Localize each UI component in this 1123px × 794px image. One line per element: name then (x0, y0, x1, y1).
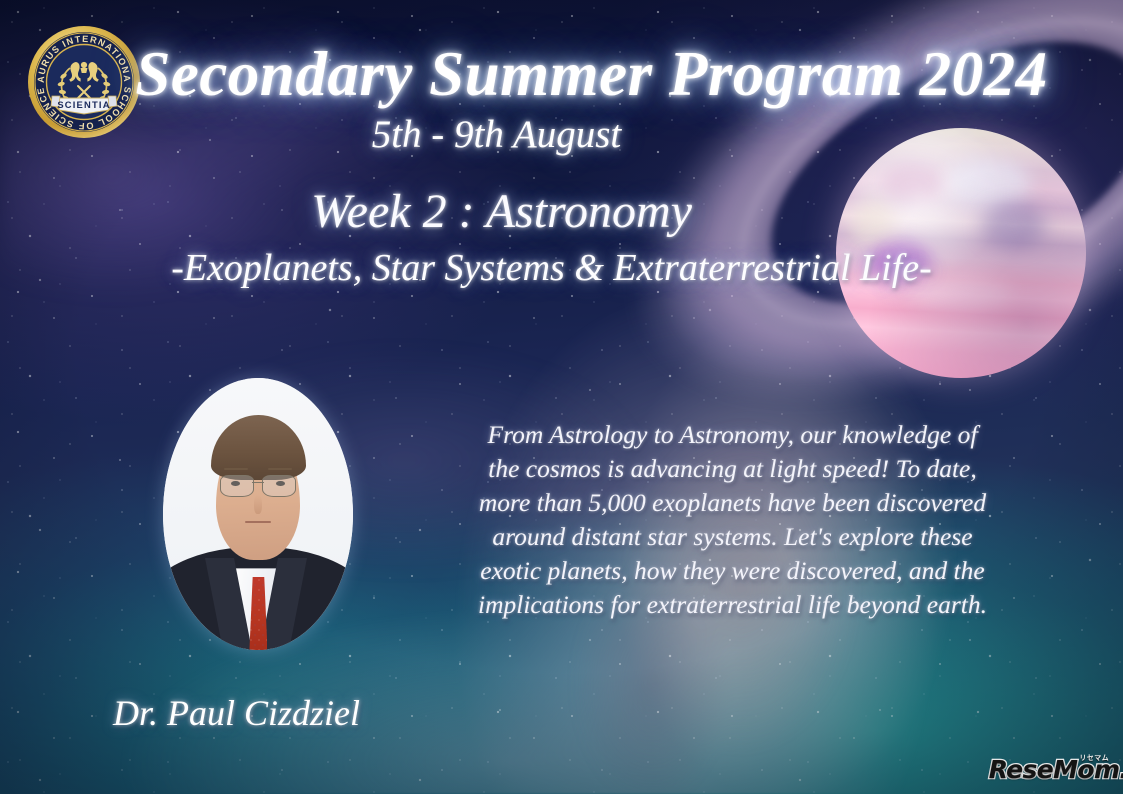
description-line: exotic planets, how they were discovered… (450, 554, 1015, 588)
speaker-name: Dr. Paul Cizdziel (113, 692, 360, 734)
week-heading: Week 2 : Astronomy (0, 184, 1123, 239)
topic-subheading: -Exoplanets, Star Systems & Extraterrest… (0, 246, 1123, 290)
description-line: around distant star systems. Let's explo… (450, 520, 1015, 554)
poster-title: Secondary Summer Program 2024 (0, 38, 1123, 111)
description-line: more than 5,000 exoplanets have been dis… (450, 486, 1015, 520)
resemom-watermark: ReseMom. リセマム (1006, 752, 1111, 786)
description-line: From Astrology to Astronomy, our knowled… (450, 418, 1015, 452)
poster-canvas: LAURUS INTERNATIONAL SCHOOL OF SCIENCE (0, 0, 1123, 794)
course-description: From Astrology to Astronomy, our knowled… (450, 418, 1015, 622)
poster-dates: 5th - 9th August (0, 112, 1123, 157)
watermark-superscript: リセマム (1079, 753, 1109, 763)
eyeglasses-icon (220, 475, 296, 495)
speaker-portrait (163, 378, 353, 650)
description-line: implications for extraterrestrial life b… (450, 588, 1015, 622)
description-line: the cosmos is advancing at light speed! … (450, 452, 1015, 486)
